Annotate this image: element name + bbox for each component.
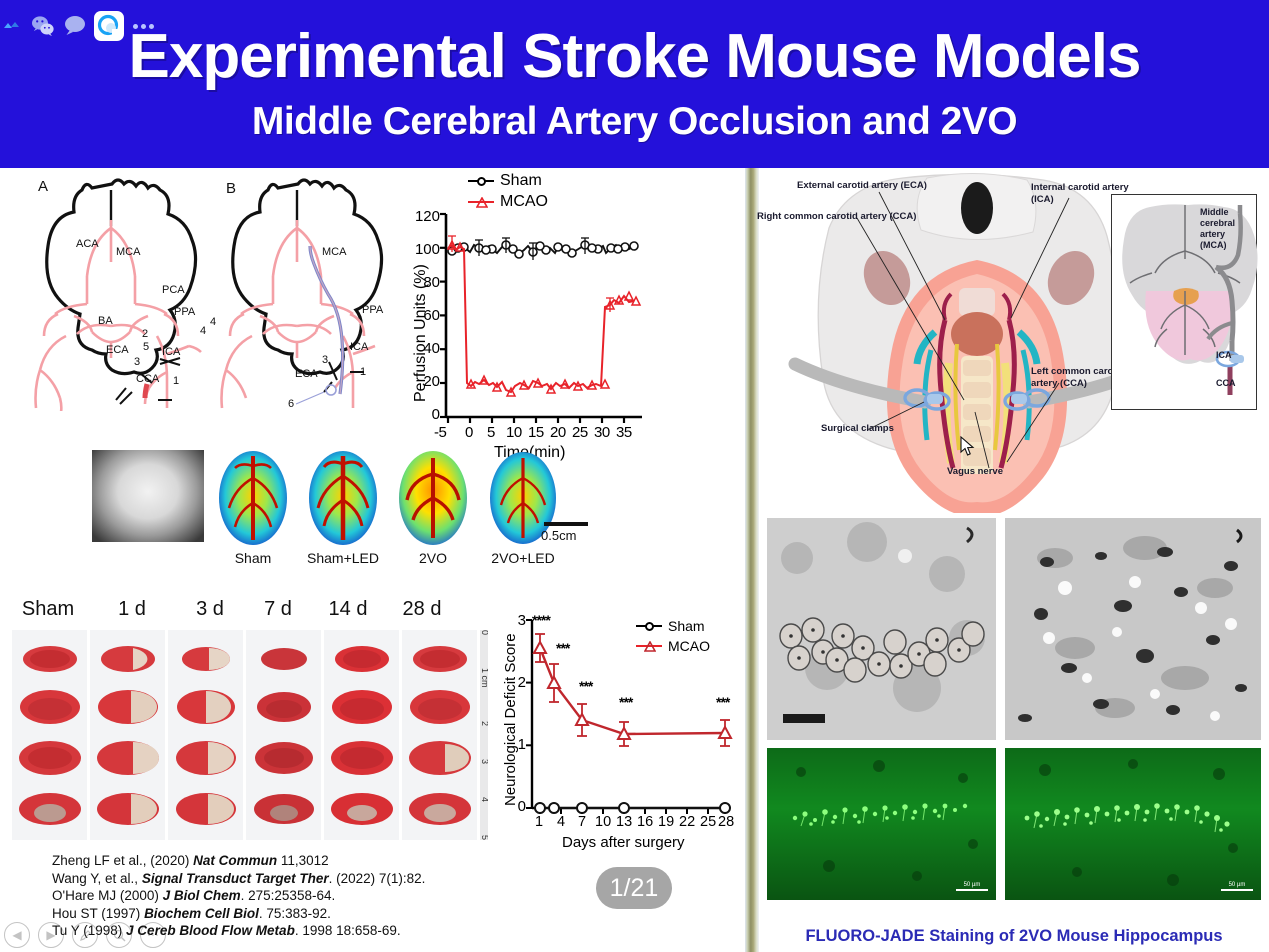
page-title: Experimental Stroke Mouse Models: [0, 26, 1269, 88]
neuro-annotation-day7: ***: [579, 678, 592, 694]
panel-divider: [745, 168, 759, 952]
speckle-label-2vo: 2VO: [390, 550, 476, 566]
inset-label-ica: ICA: [1216, 350, 1232, 361]
citation-author: O'Hare MJ (2000): [52, 888, 163, 903]
panel-a-label-ba: BA: [98, 315, 113, 327]
pen-tool-icon[interactable]: [72, 922, 98, 948]
panel-b-label-eca: ECA: [295, 368, 318, 380]
fluorescence-scale-bar-right: 50 µm: [1221, 882, 1253, 891]
citation-author: Hou ST (1997): [52, 906, 144, 921]
perfusion-chart: Sham MCAO 120 100 80 60 40 20 0: [396, 170, 656, 452]
left-content-panel: A: [0, 168, 745, 952]
neuro-deficit-chart: Sham MCAO 3 2 1 0: [488, 616, 738, 848]
panel-b-label-ppa: PPA: [362, 304, 383, 316]
slide-header: Experimental Stroke Mouse Models Middle …: [0, 0, 1269, 168]
neuro-annotation-day28: ***: [716, 694, 729, 710]
perfusion-xtick-30: 30: [594, 424, 610, 441]
anatomy-label-right-cca-text: Right common carotid artery (CCA): [757, 211, 916, 222]
histology-image-intact: [767, 518, 996, 740]
ttc-column-14d: [324, 630, 399, 840]
ttc-header-7d: 7 d: [238, 598, 318, 621]
page-subtitle: Middle Cerebral Artery Occlusion and 2VO: [0, 102, 1269, 141]
zoom-icon[interactable]: [106, 922, 132, 948]
panel-a-label-mca: MCA: [116, 246, 140, 258]
panel-a-label-pca: PCA: [162, 284, 185, 296]
citation-journal: Nat Commun: [193, 853, 277, 868]
panel-b-number-4: 4: [210, 316, 216, 328]
anatomy-label-eca: External carotid artery (ECA): [797, 180, 927, 192]
neuro-xtick-10: 10: [595, 814, 611, 830]
neuro-annotation-day1: ****: [532, 612, 550, 628]
panel-a-label-ppa: PPA: [174, 306, 195, 318]
laser-speckle-row: 0.5cm Sham Sham+LED 2VO 2VO+LED: [92, 448, 602, 583]
anatomy-label-surgical-clamps: Surgical clamps: [821, 423, 901, 435]
perfusion-xtick-5: 5: [487, 424, 495, 441]
citation-author: Wang Y, et al.,: [52, 871, 142, 886]
ttc-slice-grid: 0 1 cm 2 3 4 5: [12, 630, 502, 840]
ttc-column-28d: [402, 630, 477, 840]
citation-journal: J Biol Chem: [163, 888, 241, 903]
inset-label-mca: Middle cerebral artery (MCA): [1200, 207, 1235, 251]
next-slide-icon[interactable]: ▶: [38, 922, 64, 948]
neuro-xtick-19: 19: [658, 814, 674, 830]
panel-b-label-ica: ICA: [350, 341, 368, 353]
citation-author: Zheng LF et al., (2020): [52, 853, 193, 868]
neuro-xtick-25: 25: [700, 814, 716, 830]
neuro-annotation-day14: ***: [619, 694, 632, 710]
panel-a-number-2: 2: [142, 328, 148, 340]
panel-a-number-5: 5: [143, 341, 149, 353]
citation-row: O'Hare MJ (2000) J Biol Chem. 275:25358-…: [52, 887, 532, 905]
ttc-header-28d: 28 d: [382, 598, 462, 621]
ttc-header-14d: 14 d: [308, 598, 388, 621]
speckle-scale-label: 0.5cm: [541, 528, 576, 543]
right-content-panel: External carotid artery (ECA) Right comm…: [759, 168, 1269, 952]
perfusion-xtick-0: 0: [465, 424, 473, 441]
inset-label-mca-line1: Middle: [1200, 207, 1235, 218]
histology-image-damaged: [1005, 518, 1261, 740]
panel-b-number-6: 6: [288, 398, 294, 410]
speckle-label-sham-led: Sham+LED: [295, 550, 391, 566]
neuro-xtick-7: 7: [578, 814, 586, 830]
anatomy-label-eca-text: External carotid artery (ECA): [797, 180, 927, 191]
panel-a-label-cca: CCA: [136, 373, 159, 385]
citation-detail: . 75:383-92.: [259, 906, 331, 921]
speckle-label-2vo-led: 2VO+LED: [475, 550, 571, 566]
fluoro-jade-caption: FLUORO-JADE Staining of 2VO Mouse Hippoc…: [759, 927, 1269, 946]
citation-row: Hou ST (1997) Biochem Cell Biol. 75:383-…: [52, 905, 532, 923]
slide-viewer: Experimental Stroke Mouse Models Middle …: [0, 0, 1269, 952]
citation-journal: Signal Transduct Target Ther: [142, 871, 329, 886]
diagram-panel-a: A: [14, 176, 209, 411]
citation-row: Zheng LF et al., (2020) Nat Commun 11,30…: [52, 852, 532, 870]
panel-a-number-3: 3: [134, 356, 140, 368]
inset-label-mca-line2: cerebral: [1200, 218, 1235, 229]
neuro-xtick-16: 16: [637, 814, 653, 830]
neuro-ylabel: Neurological Deficit Score: [502, 633, 519, 806]
brain-photo-grayscale: [92, 450, 204, 542]
neuro-xtick-28: 28: [718, 814, 734, 830]
ttc-column-3d: [168, 630, 243, 840]
more-options-icon[interactable]: ⋯: [140, 922, 166, 948]
panel-a-label-ica: ICA: [162, 346, 180, 358]
panel-b-number-1: 1: [360, 366, 366, 378]
panel-b-number-3: 3: [322, 354, 328, 366]
citation-detail: . 1998 18:658-69.: [295, 923, 401, 938]
citation-journal: Biochem Cell Biol: [144, 906, 259, 921]
mca-inset-box: Middle cerebral artery (MCA) ICA CCA: [1111, 194, 1257, 410]
anatomy-label-vagus-nerve: Vagus nerve: [947, 466, 1047, 478]
speckle-label-sham: Sham: [210, 550, 296, 566]
presentation-toolbar[interactable]: ◀ ▶ ⋯: [4, 922, 166, 948]
mouse-neck-anatomy-diagram: External carotid artery (ECA) Right comm…: [759, 168, 1269, 513]
citation-detail: 11,3012: [277, 853, 329, 868]
anatomy-label-right-cca: Right common carotid artery (CCA): [757, 211, 916, 223]
inset-label-cca: CCA: [1216, 378, 1236, 389]
fluorescence-scale-text-left: 50 µm: [964, 882, 981, 888]
slide-number-badge: 1/21: [596, 867, 672, 909]
fluorescence-image-right: 50 µm: [1005, 748, 1261, 900]
fluorescence-scale-bar-left: 50 µm: [956, 882, 988, 891]
perfusion-xtick-20: 20: [550, 424, 566, 441]
neuro-xtick-22: 22: [679, 814, 695, 830]
panel-a-label-aca: ACA: [76, 238, 99, 250]
citation-row: Wang Y, et al., Signal Transduct Target …: [52, 870, 532, 888]
anatomy-label-surgical-clamps-text: Surgical clamps: [821, 423, 894, 434]
anatomy-label-vagus-nerve-text: Vagus nerve: [947, 466, 1003, 477]
ttc-header-1d: 1 d: [92, 598, 172, 621]
inset-label-mca-line3: artery: [1200, 229, 1235, 240]
inset-label-mca-line4: (MCA): [1200, 240, 1235, 251]
speckle-image-2vo: [390, 448, 476, 548]
ttc-column-1d: [90, 630, 165, 840]
neuro-annotation-day3: ***: [556, 640, 569, 656]
perfusion-xtick--5: -5: [434, 424, 446, 441]
perfusion-xtick-15: 15: [528, 424, 544, 441]
prev-slide-icon[interactable]: ◀: [4, 922, 30, 948]
panel-b-label-mca: MCA: [322, 246, 346, 258]
neuro-xtick-13: 13: [616, 814, 632, 830]
panel-a-label-eca: ECA: [106, 344, 129, 356]
ttc-header-sham: Sham: [8, 598, 88, 621]
perfusion-xtick-10: 10: [506, 424, 522, 441]
speckle-scale-bar: [544, 522, 588, 526]
citation-detail: . (2022) 7(1):82.: [329, 871, 426, 886]
ttc-column-sham: [12, 630, 87, 840]
neuro-xlabel: Days after surgery: [562, 834, 685, 851]
ttc-column-7d: [246, 630, 321, 840]
citation-detail: . 275:25358-64.: [241, 888, 336, 903]
speckle-image-sham: [210, 448, 296, 548]
neuro-xtick-1: 1: [535, 814, 543, 830]
fluorescence-scale-text-right: 50 µm: [1229, 882, 1246, 888]
speckle-image-sham-led: [300, 448, 386, 548]
neuro-xtick-4: 4: [557, 814, 565, 830]
perfusion-ylabel: Perfusion Units (%): [412, 264, 430, 402]
fluorescence-image-left: 50 µm: [767, 748, 996, 900]
perfusion-xtick-35: 35: [616, 424, 632, 441]
perfusion-xtick-25: 25: [572, 424, 588, 441]
panel-a-number-1: 1: [173, 375, 179, 387]
diagram-panel-b: B: [200, 176, 395, 411]
perfusion-plot-area: [396, 170, 656, 452]
